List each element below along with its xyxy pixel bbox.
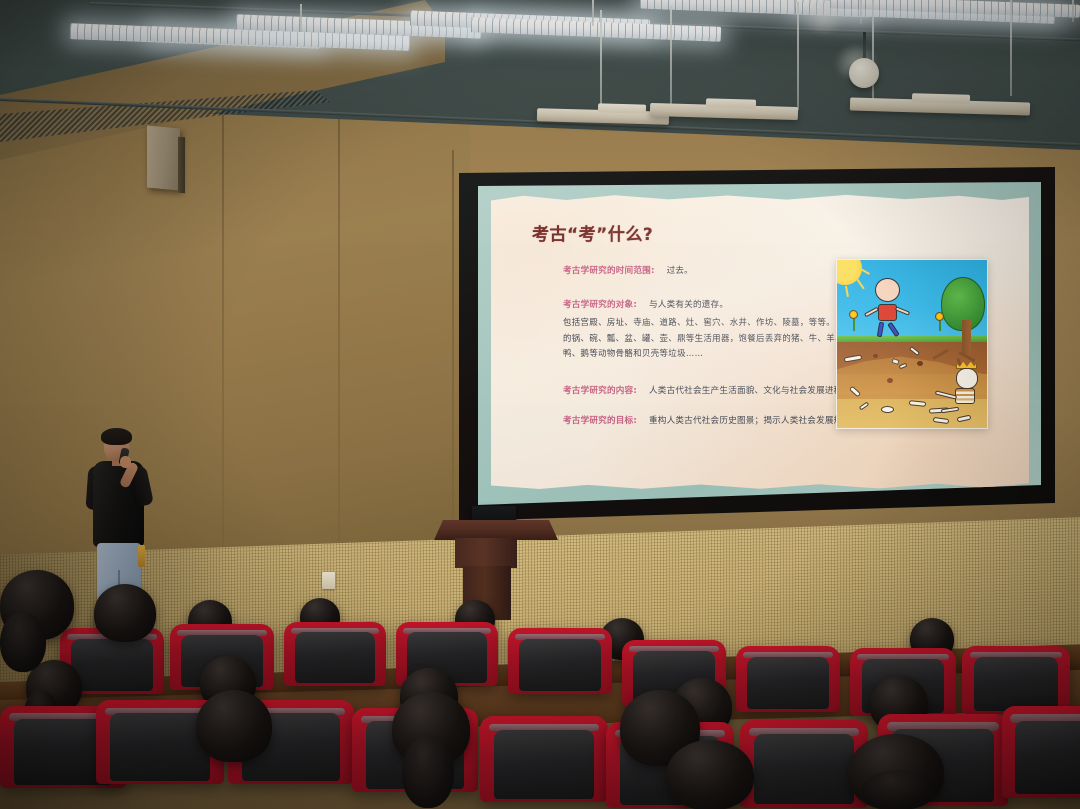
- upper-wall-left: [0, 86, 470, 586]
- fixture-hanger-wire: [860, 0, 862, 24]
- audience-head: [666, 740, 754, 809]
- slide-value: 重构人类古代社会历史图景；揭示人类社会发展规律。: [649, 414, 860, 426]
- slide-label: 考古学研究的对象:: [563, 298, 637, 310]
- pendant-light-cap: [598, 103, 646, 113]
- projection-screen-surface[interactable]: 考古“考”什么? 考古学研究的时间范围:过去。 考古学研究的对象:与人类有关的遗…: [478, 182, 1041, 505]
- lecture-hall-photo: 考古“考”什么? 考古学研究的时间范围:过去。 考古学研究的对象:与人类有关的遗…: [0, 0, 1080, 809]
- fixture-hanger-wire: [797, 2, 799, 110]
- wall-speaker: [147, 126, 180, 191]
- auditorium-seat[interactable]: [508, 628, 612, 694]
- fixture-hanger-wire: [1010, 0, 1012, 96]
- slide-paper: 考古“考”什么? 考古学研究的时间范围:过去。 考古学研究的对象:与人类有关的遗…: [491, 194, 1029, 492]
- auditorium-seat[interactable]: [284, 622, 386, 686]
- slide-title: 考古“考”什么?: [532, 220, 653, 245]
- wall-outlet: [322, 572, 335, 589]
- fixture-hanger-wire: [300, 4, 302, 32]
- ceiling-speaker: [849, 58, 879, 88]
- ceiling-reflection: [800, 2, 846, 32]
- lectern-body: [455, 538, 517, 568]
- slide-label: 考古学研究的时间范围:: [563, 264, 655, 276]
- pendant-light-cap: [706, 98, 756, 108]
- audience-head: [94, 584, 156, 642]
- audience-ponytail: [0, 612, 46, 672]
- presenter-hair: [101, 428, 132, 445]
- slide-value: 过去。: [667, 264, 693, 276]
- auditorium-seat[interactable]: [736, 646, 840, 712]
- fixture-hanger-wire: [592, 0, 594, 26]
- auditorium-seat[interactable]: [480, 716, 608, 802]
- skeleton-skull: [956, 368, 978, 389]
- skeleton-ribs: [955, 388, 975, 404]
- wall-seam: [222, 100, 224, 570]
- slide-label: 考古学研究的目标:: [563, 414, 637, 426]
- child-body: [878, 304, 897, 321]
- fixture-hanger-wire: [1072, 0, 1074, 22]
- lectern-top: [434, 520, 558, 540]
- tree-trunk: [962, 320, 971, 354]
- slide-value: 人类古代社会生产生活面貌、文化与社会发展进程。: [649, 384, 851, 396]
- wall-speaker-side: [178, 137, 185, 194]
- wall-seam: [452, 150, 454, 550]
- soil-pebble: [887, 378, 893, 383]
- flower-icon: [935, 312, 944, 321]
- auditorium-seat[interactable]: [1002, 706, 1080, 798]
- archaeology-illustration: [836, 259, 988, 429]
- audience-ponytail: [402, 736, 454, 808]
- pendant-light-cap: [912, 93, 970, 104]
- wall-seam: [338, 100, 340, 570]
- audience-ponytail: [862, 770, 934, 809]
- presenter-hand: [120, 456, 131, 468]
- fixture-hanger-wire: [600, 10, 602, 118]
- soil-pebble: [917, 361, 923, 366]
- presenter-pocket-item: [138, 545, 145, 567]
- audience-head: [196, 690, 272, 762]
- auditorium-seat[interactable]: [962, 646, 1070, 714]
- slide-value: 与人类有关的遗存。: [649, 298, 728, 310]
- fixture-hanger-wire: [670, 6, 672, 108]
- slide-label: 考古学研究的内容:: [563, 384, 637, 396]
